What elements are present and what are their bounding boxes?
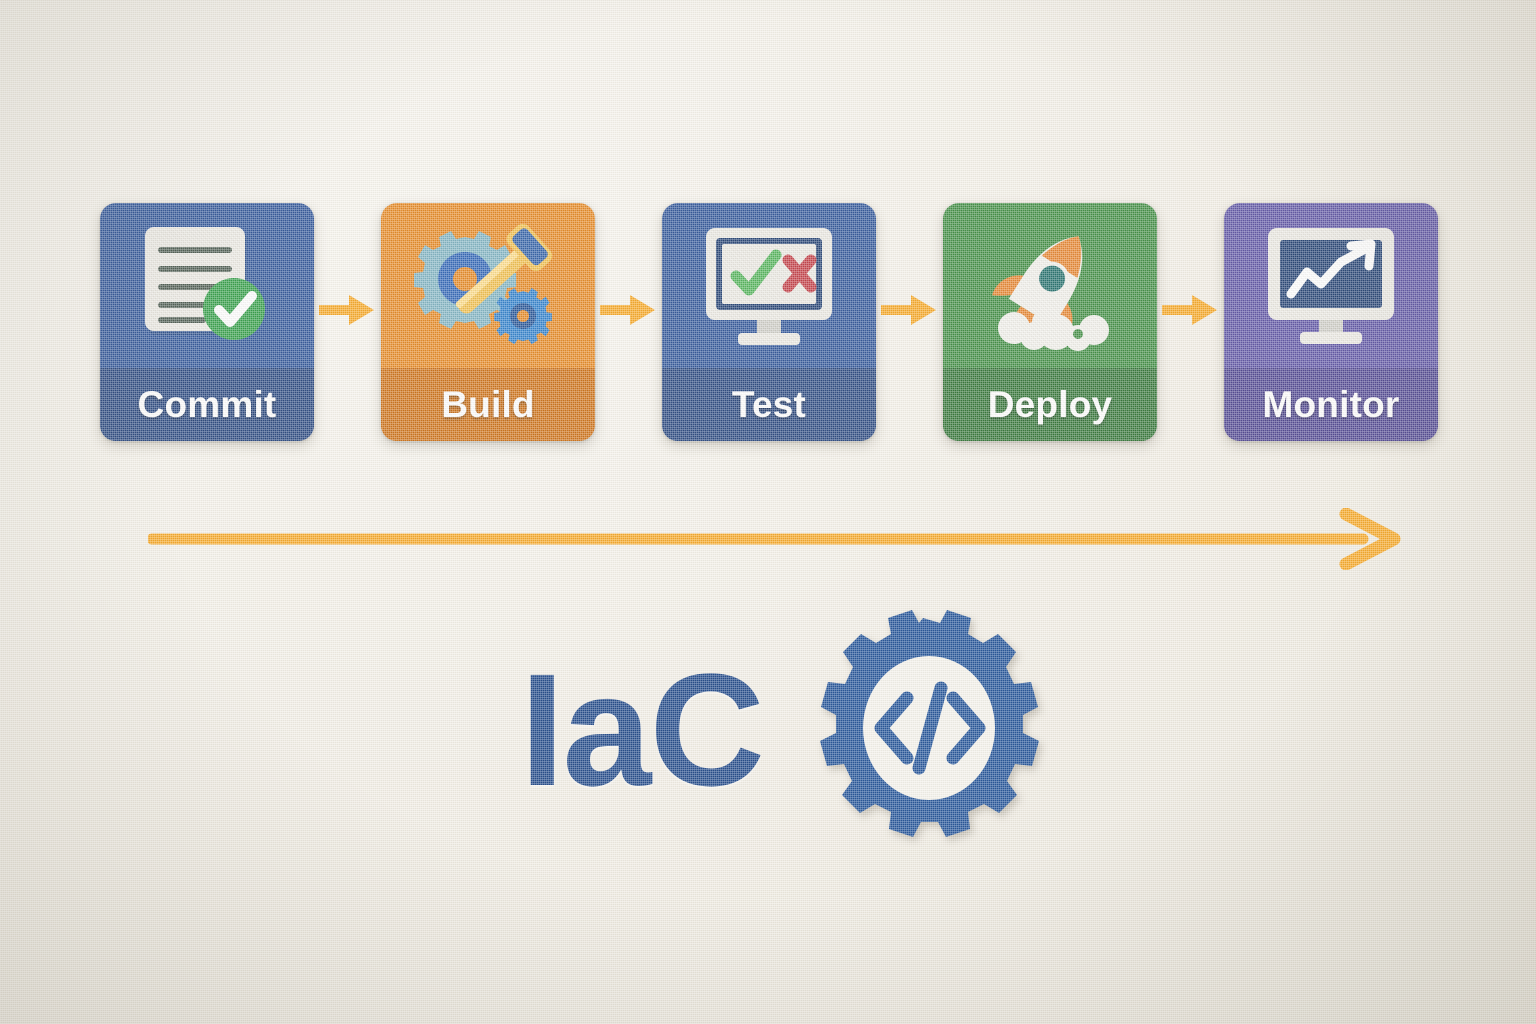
stage-label-deploy: Deploy [988, 384, 1113, 426]
stage-card-build[interactable]: Build [381, 203, 595, 441]
stage-label-band-test: Test [662, 368, 876, 441]
stage-card-monitor[interactable]: Monitor [1224, 203, 1438, 441]
stage-card-deploy[interactable]: Deploy [943, 203, 1157, 441]
monitor-pass-fail-icon [694, 222, 844, 350]
timeline-arrow [148, 508, 1402, 570]
stage-label-band-build: Build [381, 368, 595, 441]
stage-label-band-commit: Commit [100, 368, 314, 441]
monitor-chart-icon [1255, 222, 1407, 350]
stage-label-monitor: Monitor [1262, 384, 1399, 426]
arrow-deploy-to-monitor [1162, 293, 1218, 327]
stage-label-build: Build [441, 384, 534, 426]
arrow-build-to-test [600, 293, 656, 327]
pipeline-stage-row: Commit [100, 203, 1440, 441]
iac-label: IaC [520, 650, 763, 810]
stage-label-band-monitor: Monitor [1224, 368, 1438, 441]
stage-icon-test [662, 203, 876, 368]
arrow-test-to-deploy [881, 293, 937, 327]
gears-hammer-icon [413, 221, 563, 351]
stage-icon-monitor [1224, 203, 1438, 368]
timeline-arrow-graphic [148, 508, 1402, 570]
stage-icon-deploy [943, 203, 1157, 368]
arrow-commit-to-build [319, 293, 375, 327]
document-check-icon [137, 223, 277, 348]
stage-icon-commit [100, 203, 314, 368]
stage-icon-build [381, 203, 595, 368]
gear-code-icon [803, 610, 1043, 850]
stage-label-commit: Commit [138, 384, 277, 426]
stage-card-test[interactable]: Test [662, 203, 876, 441]
iac-block: IaC [520, 600, 1120, 860]
stage-label-test: Test [732, 384, 806, 426]
stage-card-commit[interactable]: Commit [100, 203, 314, 441]
stage-label-band-deploy: Deploy [943, 368, 1157, 441]
rocket-icon [974, 220, 1126, 352]
diagram-canvas: Commit [0, 0, 1536, 1024]
